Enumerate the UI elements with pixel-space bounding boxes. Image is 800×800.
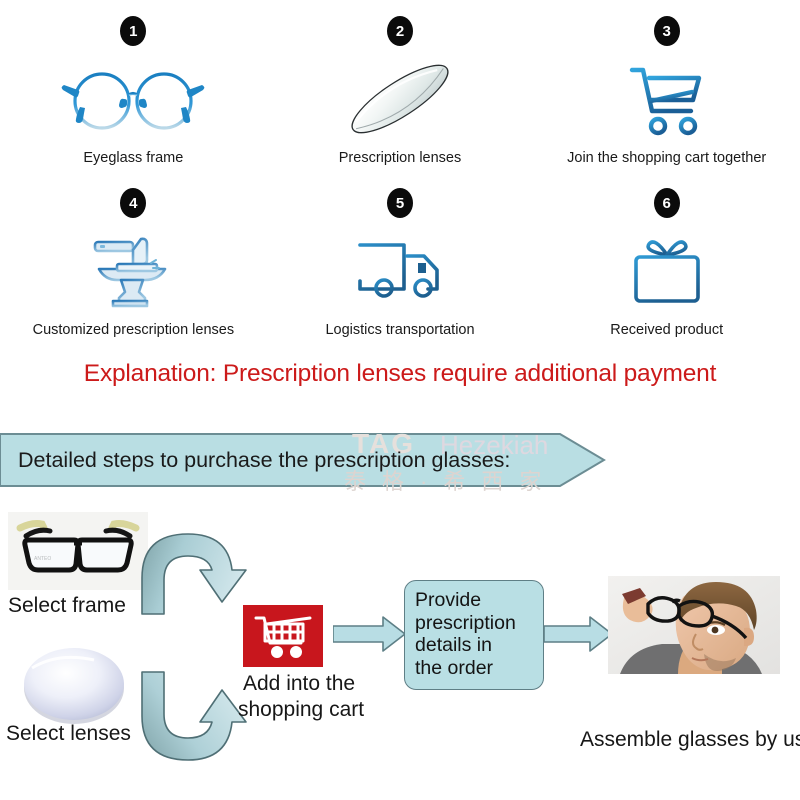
step-badge-2: 2: [387, 16, 413, 46]
explanation-text: Explanation: Prescription lenses require…: [0, 360, 800, 388]
select-lenses-label: Select lenses: [6, 722, 131, 746]
provide-line-1: Provide: [415, 589, 543, 612]
step-label-4: Customized prescription lenses: [33, 322, 234, 338]
step-label-5: Logistics transportation: [325, 322, 474, 338]
select-frame-label: Select frame: [8, 594, 126, 618]
banner-title: Detailed steps to purchase the prescript…: [18, 432, 510, 488]
lens-photo: [14, 640, 134, 728]
infographic-page: 1: [0, 0, 800, 800]
arrow-cart-to-provide: [333, 613, 407, 657]
step-badge-3: 3: [654, 16, 680, 46]
svg-text:ANTEO: ANTEO: [34, 556, 51, 562]
provide-prescription-box: Provide prescription details in the orde…: [404, 580, 544, 690]
provide-line-2: prescription: [415, 612, 543, 635]
step-label-6: Received product: [610, 322, 723, 338]
cart-white-icon: [252, 613, 314, 659]
step-prescription-lenses: 2: [267, 16, 534, 166]
step-badge-1: 1: [120, 16, 146, 46]
steps-row-2: 4: [0, 166, 800, 338]
curved-arrow-frame-to-cart: [136, 528, 256, 628]
anvil-hammer-icon: [87, 228, 179, 314]
assemble-glasses-label: Assemble glasses by us: [580, 728, 800, 752]
step-label-1: Eyeglass frame: [83, 150, 183, 166]
step-join-cart: 3: [533, 16, 800, 166]
steps-grid: 1: [0, 0, 800, 338]
step-badge-4: 4: [120, 188, 146, 218]
prescription-lens-icon: [335, 56, 465, 142]
gift-box-icon: [627, 228, 707, 314]
arrow-provide-to-assemble: [544, 613, 614, 657]
step-label-3: Join the shopping cart together: [567, 150, 766, 166]
eyeglass-frame-photo: ANTEO: [8, 512, 148, 590]
provide-line-4: the order: [415, 657, 543, 680]
step-eyeglass-frame: 1: [0, 16, 267, 166]
purchase-flow-diagram: ANTEO Select frame Select lense: [0, 500, 800, 800]
add-to-cart-label-line2: shopping cart: [238, 698, 364, 722]
step-customized-lenses: 4: [0, 188, 267, 338]
add-to-cart-label-line1: Add into the: [243, 672, 355, 696]
man-wearing-glasses-photo: [608, 576, 780, 674]
eyeglass-frame-icon: [58, 56, 208, 142]
add-to-cart-box[interactable]: [243, 605, 323, 667]
delivery-truck-icon: [354, 228, 446, 314]
steps-row-1: 1: [0, 0, 800, 166]
step-badge-6: 6: [654, 188, 680, 218]
step-received-product: 6: [533, 188, 800, 338]
step-label-2: Prescription lenses: [339, 150, 462, 166]
step-logistics: 5: [267, 188, 534, 338]
step-badge-5: 5: [387, 188, 413, 218]
shopping-cart-icon: [625, 56, 709, 142]
banner-arrow: Detailed steps to purchase the prescript…: [0, 432, 612, 488]
provide-line-3: details in: [415, 634, 543, 657]
